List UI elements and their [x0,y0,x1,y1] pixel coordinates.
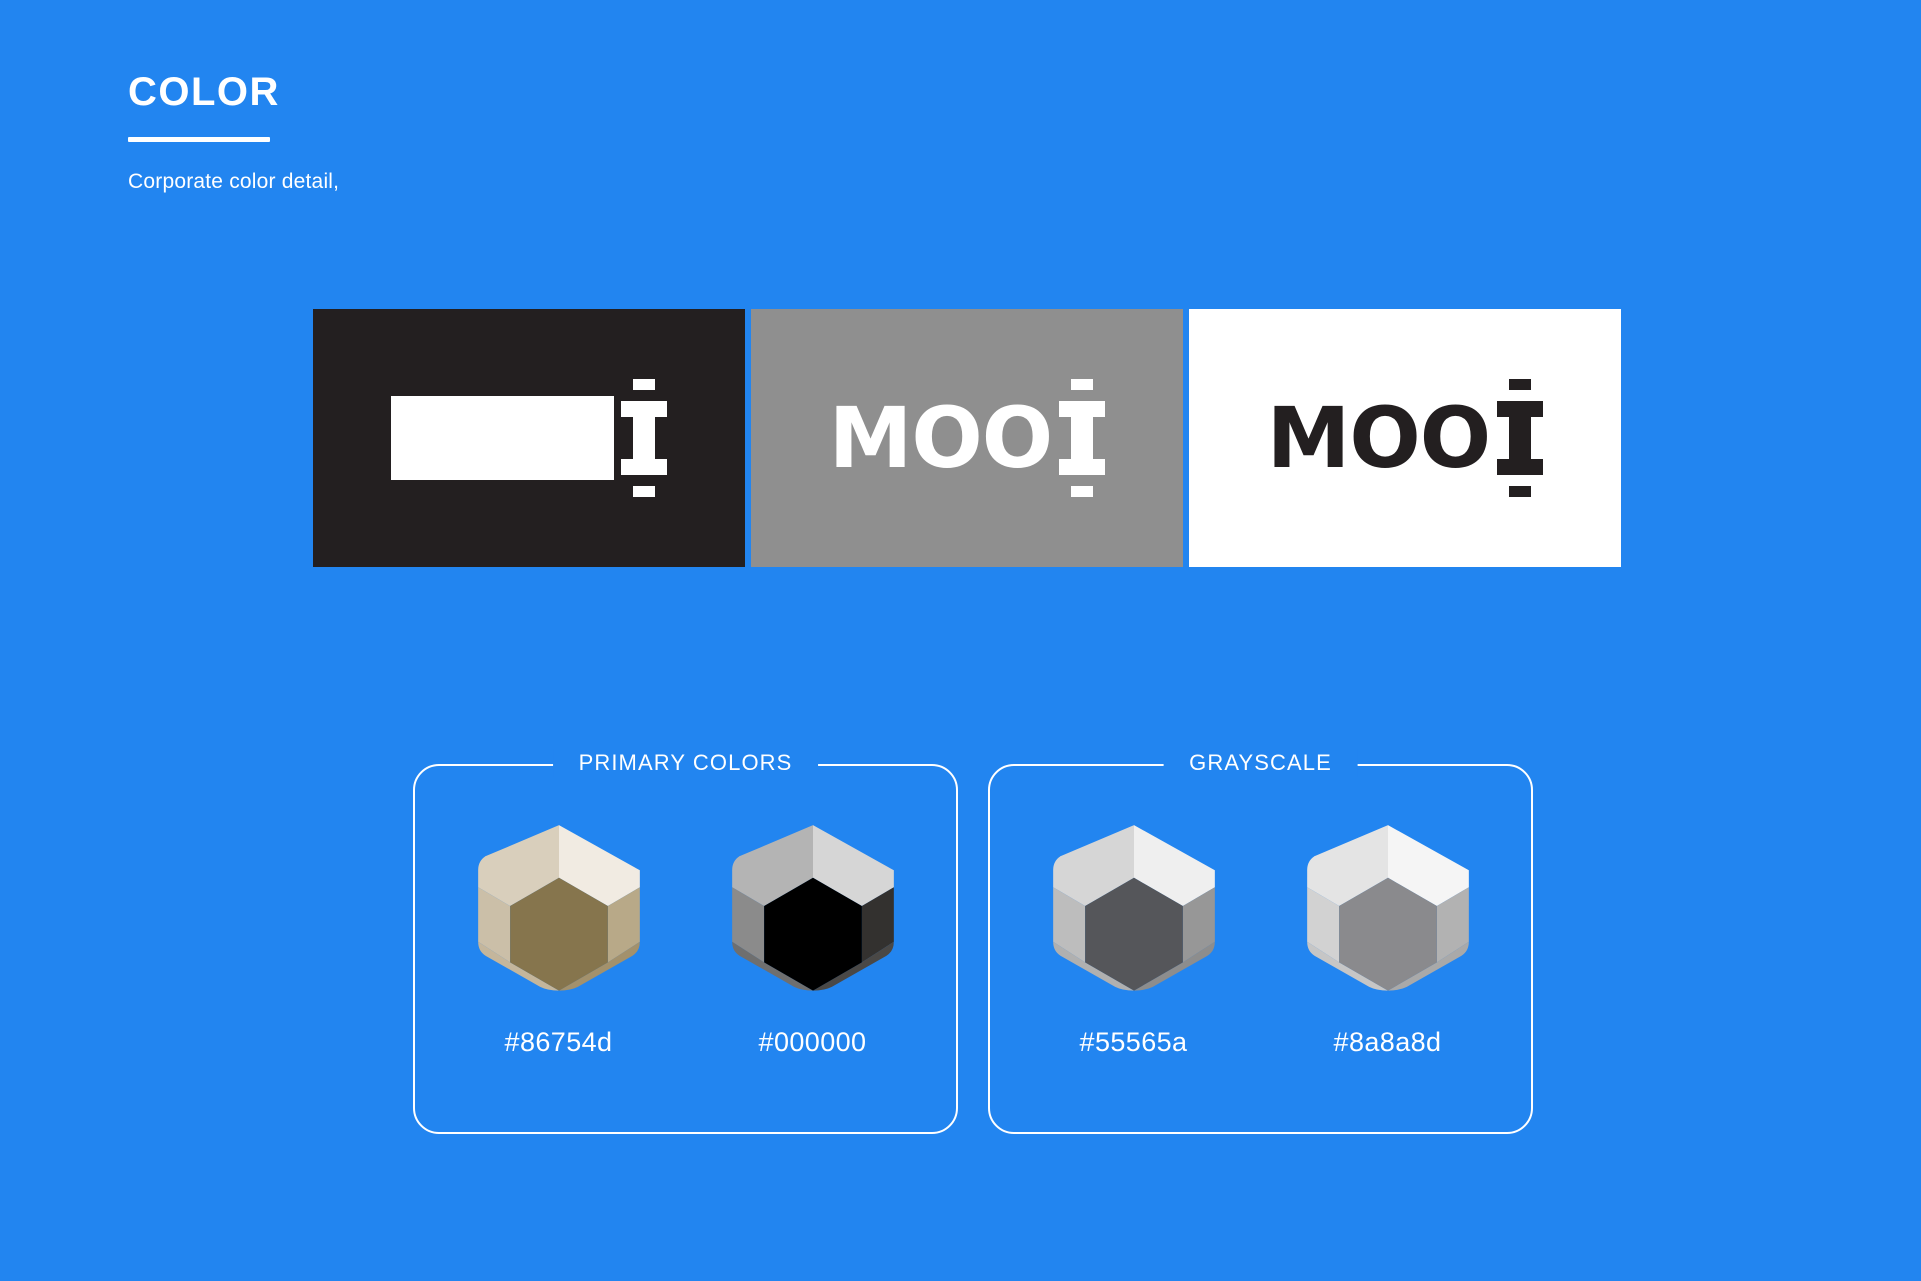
logo-panel-light: MOO [1189,309,1621,567]
swatch-pair: #55565a #8a8a8d [988,812,1533,1058]
hex-code-label: #86754d [465,1027,653,1058]
page-header: COLOR Corporate color detail, [128,72,339,194]
hex-code-label: #55565a [1040,1027,1228,1058]
title-underline-rule [128,137,270,142]
color-swatch[interactable]: #86754d [465,812,653,1058]
gem-icon [1040,812,1228,1000]
group-label-primary: PRIMARY COLORS [553,749,819,777]
page-subtitle: Corporate color detail, [128,170,339,194]
logo-wordmark-gray: MOO [829,379,1105,497]
logo-wordmark-letters: MOO [391,396,614,480]
group-grayscale: GRAYSCALE #55565a [988,764,1533,1134]
page-title: COLOR [128,72,339,112]
logo-wordmark-light: MOO [1267,379,1543,497]
hex-code-label: #8a8a8d [1294,1027,1482,1058]
color-swatch[interactable]: #55565a [1040,812,1228,1058]
logo-wordmark-letters: MOO [829,396,1052,480]
logo-wordmark-dark: MOO [391,379,667,497]
gem-icon [465,812,653,1000]
swatch-pair: #86754d #000000 [413,812,958,1058]
logo-panel-dark: MOO [313,309,745,567]
group-primary-colors: PRIMARY COLORS #86754d [413,764,958,1134]
color-swatch[interactable]: #000000 [719,812,907,1058]
logo-wordmark-letters: MOO [1267,396,1490,480]
hex-code-label: #000000 [719,1027,907,1058]
logo-dotted-i-icon [621,379,667,497]
group-label-grayscale: GRAYSCALE [1163,749,1358,777]
color-groups: PRIMARY COLORS #86754d [413,764,1533,1134]
logo-dotted-i-icon [1497,379,1543,497]
logo-panel-gray: MOO [751,309,1183,567]
color-swatch[interactable]: #8a8a8d [1294,812,1482,1058]
gem-icon [1294,812,1482,1000]
logo-dotted-i-icon [1059,379,1105,497]
logo-swatch-row: MOO MOO MOO [313,309,1621,567]
gem-icon [719,812,907,1000]
